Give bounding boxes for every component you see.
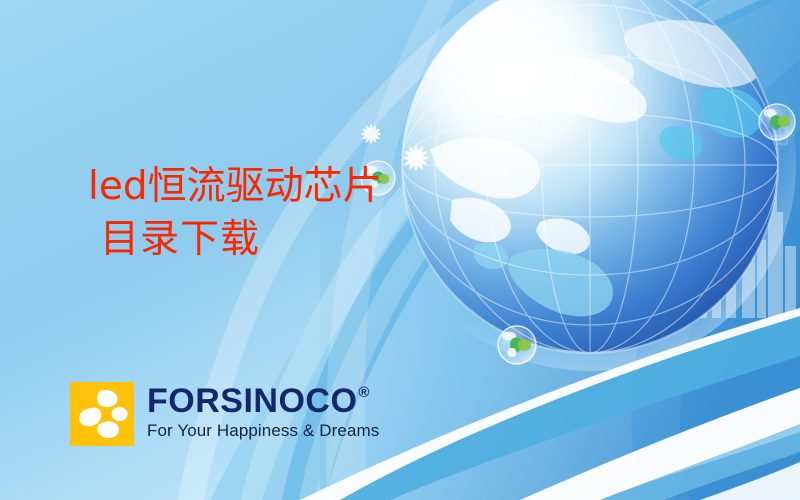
headline-block: led恒流驱动芯片 目录下载: [0, 160, 400, 266]
starburst-small-icon: [361, 124, 381, 144]
headline-line-2: 目录下载: [0, 213, 400, 266]
eco-bubble-right-icon: [759, 104, 795, 140]
logo-text-block: FORSINOCO ® For Your Happiness & Dreams: [147, 382, 379, 441]
registered-trademark-icon: ®: [358, 385, 369, 400]
eco-bubble-mid-icon: [498, 326, 536, 364]
promo-banner: led恒流驱动芯片 目录下载 FORSINOCO ® For Your Happ…: [0, 0, 800, 500]
headline-line-1: led恒流驱动芯片: [0, 160, 400, 213]
brand-row: FORSINOCO ®: [147, 384, 379, 418]
starburst-large-icon: [403, 145, 429, 171]
company-logo[interactable]: FORSINOCO ® For Your Happiness & Dreams: [70, 382, 379, 446]
brand-tagline: For Your Happiness & Dreams: [147, 421, 379, 441]
brand-name: FORSINOCO: [147, 384, 357, 418]
forsinoco-pinwheel-mark-icon: [70, 382, 134, 446]
